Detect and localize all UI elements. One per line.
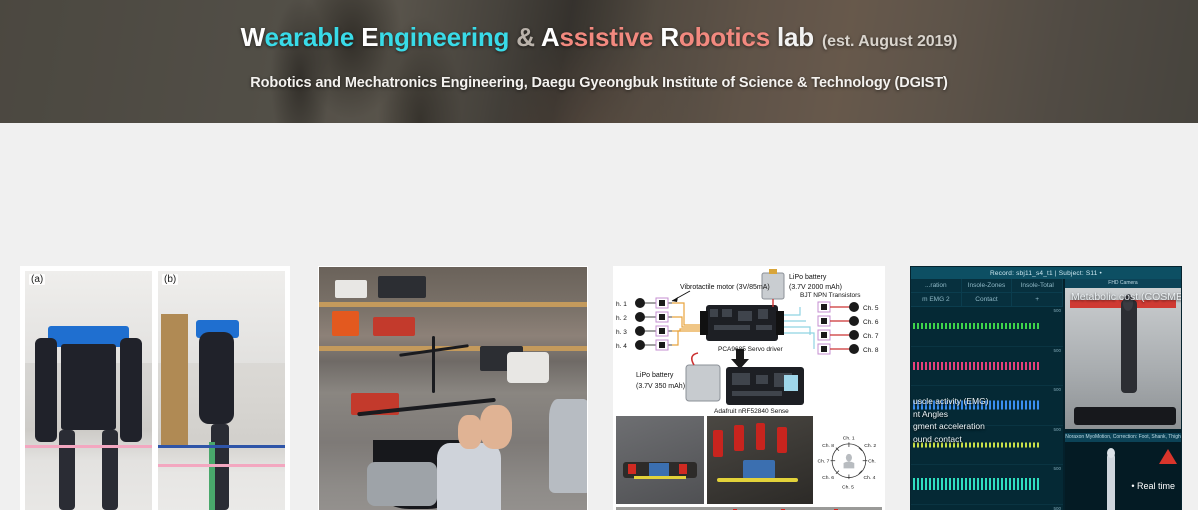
trace-row-acceleration[interactable]: 500: [911, 465, 1063, 505]
trace-row-contact[interactable]: 500: [911, 505, 1063, 510]
tab-contact[interactable]: Contact: [962, 293, 1013, 307]
title-segment-a: A: [541, 22, 560, 52]
svg-text:Ch. 8: Ch. 8: [863, 347, 879, 354]
trace-scale-3: 500: [1053, 387, 1061, 392]
camera-video-pane[interactable]: FHD Camera Metabolic cost (COSMED K5: [1065, 279, 1181, 429]
gallery-panel-wearable-devices[interactable]: Vibrotactile motor (3V/85mA) LiPo batter…: [613, 266, 885, 510]
page-subtitle: Robotics and Mechatronics Engineering, D…: [250, 75, 948, 91]
trace-line-teal: [913, 478, 1041, 490]
exo-torso: [61, 344, 117, 430]
svg-text:Ch. 8: Ch. 8: [822, 443, 834, 449]
tab-add-button[interactable]: +: [1012, 293, 1063, 307]
trace-scale-1: 500: [1053, 308, 1061, 313]
camera-pane-header: FHD Camera: [1065, 279, 1181, 288]
subfigure-label-a: (a): [29, 274, 45, 285]
floor-tape-blue-b: [158, 445, 285, 448]
biomechanics-software-ui: Record: sbj11_s4_t1 | Subject: S11 • ...…: [911, 267, 1181, 510]
svg-text:Ch.: Ch.: [868, 458, 876, 464]
svg-text:BJT NPN Transistors: BJT NPN Transistors: [800, 292, 861, 299]
shelf-upper: [319, 302, 587, 307]
svg-text:h. 1: h. 1: [616, 301, 627, 308]
legend-emg: uscle activity (EMG): [913, 395, 1059, 408]
lab-toolbox-red: [373, 317, 416, 336]
person-head: [480, 405, 512, 449]
floor-tape-pink-b: [158, 464, 285, 467]
tab-row-1: ...ration Insole-Zones Insole-Total: [911, 279, 1063, 293]
wearable-devices-figure: Vibrotactile motor (3V/85mA) LiPo batter…: [613, 266, 885, 510]
svg-text:LiPo battery: LiPo battery: [636, 372, 674, 379]
svg-text:Ch. 7: Ch. 7: [818, 458, 830, 464]
svg-text:Ch. 6: Ch. 6: [822, 475, 834, 481]
svg-text:h. 3: h. 3: [616, 329, 627, 336]
patient-lift-strap: [432, 336, 435, 393]
svg-text:Ch. 1: Ch. 1: [843, 435, 855, 441]
title-segment-w: W: [241, 22, 265, 52]
svg-text:Ch. 6: Ch. 6: [863, 319, 879, 326]
svg-text:h. 2: h. 2: [616, 315, 627, 322]
svg-text:(3.7V 2000 mAh): (3.7V 2000 mAh): [789, 284, 842, 291]
lab-tool-orange: [332, 311, 359, 336]
exo-left-arm: [35, 338, 57, 442]
mocap-avatar-head: [1107, 448, 1115, 458]
record-status-bar: Record: sbj11_s4_t1 | Subject: S11 •: [911, 267, 1181, 279]
svg-text:Ch. 7: Ch. 7: [863, 333, 879, 340]
mocap-avatar-pane[interactable]: Noraxon MyoMotion, Correction: Foot, Sha…: [1065, 433, 1181, 510]
warning-icon: [1159, 449, 1177, 464]
exoskeleton-photo-b: (b): [158, 271, 285, 510]
legend-acceleration: gment acceleration: [913, 420, 1059, 433]
floor-tape-pink: [25, 445, 152, 448]
svg-text:Adafruit nRF52840 Sense: Adafruit nRF52840 Sense: [714, 408, 789, 415]
realtime-annotation: • Real time: [1131, 481, 1175, 491]
title-segment-r: R: [660, 22, 679, 52]
svg-text:h. 4: h. 4: [616, 343, 627, 350]
person-legs: [367, 462, 437, 506]
haptic-belt-row: Ch. 1 Ch. 2 Ch. Ch. 4 Ch. 5 Ch. 6 Ch. 7 …: [614, 416, 884, 504]
analysis-tabs[interactable]: ...ration Insole-Zones Insole-Total m EM…: [911, 279, 1063, 307]
svg-text:Ch. 2: Ch. 2: [864, 443, 876, 449]
trace-row-emg-2[interactable]: 500: [911, 347, 1063, 387]
channel-compass-diagram: Ch. 1 Ch. 2 Ch. Ch. 4 Ch. 5 Ch. 6 Ch. 7 …: [816, 416, 882, 504]
compass-svg: Ch. 1 Ch. 2 Ch. Ch. 4 Ch. 5 Ch. 6 Ch. 7 …: [816, 416, 882, 504]
svg-text:PCA9685 Servo driver: PCA9685 Servo driver: [718, 346, 784, 353]
exo-torso-side: [199, 332, 235, 424]
subject-with-exoskeleton: [1121, 300, 1137, 393]
gallery-panel-assistive-robots[interactable]: Assistive Robots: [318, 266, 588, 510]
trace-line-pink: [913, 362, 1041, 370]
assistant-person: [549, 399, 588, 493]
floor-tape-green-b: [209, 442, 215, 510]
lab-equipment-white: [335, 280, 367, 299]
motor-label-text: Vibrotactile motor (3V/85mA): [680, 284, 770, 291]
lab-door: [161, 314, 189, 449]
svg-text:Ch. 5: Ch. 5: [842, 484, 854, 490]
person-torso: [437, 443, 501, 510]
tab-acceleration[interactable]: ...ration: [911, 279, 962, 293]
mocap-avatar-body: [1107, 453, 1115, 510]
svg-text:(3.7V 350 mAh): (3.7V 350 mAh): [636, 383, 685, 390]
trace-scale-6: 500: [1053, 506, 1061, 510]
mocap-pane-header: Noraxon MyoMotion, Correction: Foot, Sha…: [1065, 433, 1181, 442]
svg-text:Ch. 4: Ch. 4: [864, 475, 876, 481]
belt-worn-photo: [616, 416, 704, 504]
tab-emg-2[interactable]: m EMG 2: [911, 293, 962, 307]
assistive-robots-figure: [318, 266, 588, 510]
treadmill: [1074, 407, 1176, 425]
trace-line-green: [913, 323, 1041, 329]
legend-ground-contact: ound contact: [913, 433, 1059, 446]
movement-biomechanics-figure: Record: sbj11_s4_t1 | Subject: S11 • ...…: [910, 266, 1182, 510]
title-segment-obotics: obotics: [679, 22, 777, 52]
svg-text:Ch. 5: Ch. 5: [863, 305, 879, 312]
title-segment-e: E: [361, 22, 378, 52]
title-segment-ngineering: ngineering: [378, 22, 516, 52]
exoskeleton-photo-a: (a): [25, 271, 152, 510]
tab-row-2: m EMG 2 Contact +: [911, 293, 1063, 307]
metabolic-cost-annotation: Metabolic cost (COSMED K5: [1071, 291, 1177, 303]
title-segment-lab: lab: [777, 22, 814, 52]
schematic-svg: Vibrotactile motor (3V/85mA) LiPo batter…: [614, 267, 885, 415]
exo-right-leg: [102, 430, 117, 510]
page-title: Wearable Engineering & Assistive Robotic…: [241, 22, 958, 53]
subfigure-label-b: (b): [162, 274, 178, 285]
person-hand: [458, 415, 482, 450]
title-segment-earable: earable: [265, 22, 362, 52]
tab-insole-zones[interactable]: Insole-Zones: [962, 279, 1013, 293]
established-date: (est. August 2019): [822, 33, 957, 50]
legend-joint-angles: nt Angles: [913, 408, 1059, 421]
title-segment-ampersand: &: [516, 22, 541, 52]
exo-right-arm: [120, 338, 142, 442]
research-gallery: (a) (b): [0, 123, 1198, 510]
page-header: Wearable Engineering & Assistive Robotic…: [0, 0, 1198, 123]
signal-legend-overlay: uscle activity (EMG) nt Angles gment acc…: [913, 395, 1059, 445]
belt-closeup-photo: [707, 416, 813, 504]
svg-text:LiPo battery: LiPo battery: [789, 274, 827, 281]
trace-scale-5: 500: [1053, 466, 1061, 471]
exo-left-leg: [59, 430, 74, 510]
exoskeleton-figure: (a) (b): [20, 266, 290, 510]
title-segment-ssistive: ssistive: [559, 22, 660, 52]
gallery-panel-exoskeletons[interactable]: (a) (b): [20, 266, 290, 510]
gallery-panel-movement-biomechanics[interactable]: Record: sbj11_s4_t1 | Subject: S11 • ...…: [910, 266, 1182, 510]
lab-photo: [319, 267, 587, 510]
tab-insole-total[interactable]: Insole-Total: [1012, 279, 1063, 293]
lab-instrument-display: [378, 276, 426, 298]
lab-printer: [507, 352, 550, 383]
trace-scale-2: 500: [1053, 348, 1061, 353]
trace-row-emg-1[interactable]: 500: [911, 307, 1063, 347]
haptic-system-schematic: Vibrotactile motor (3V/85mA) LiPo batter…: [614, 267, 884, 415]
